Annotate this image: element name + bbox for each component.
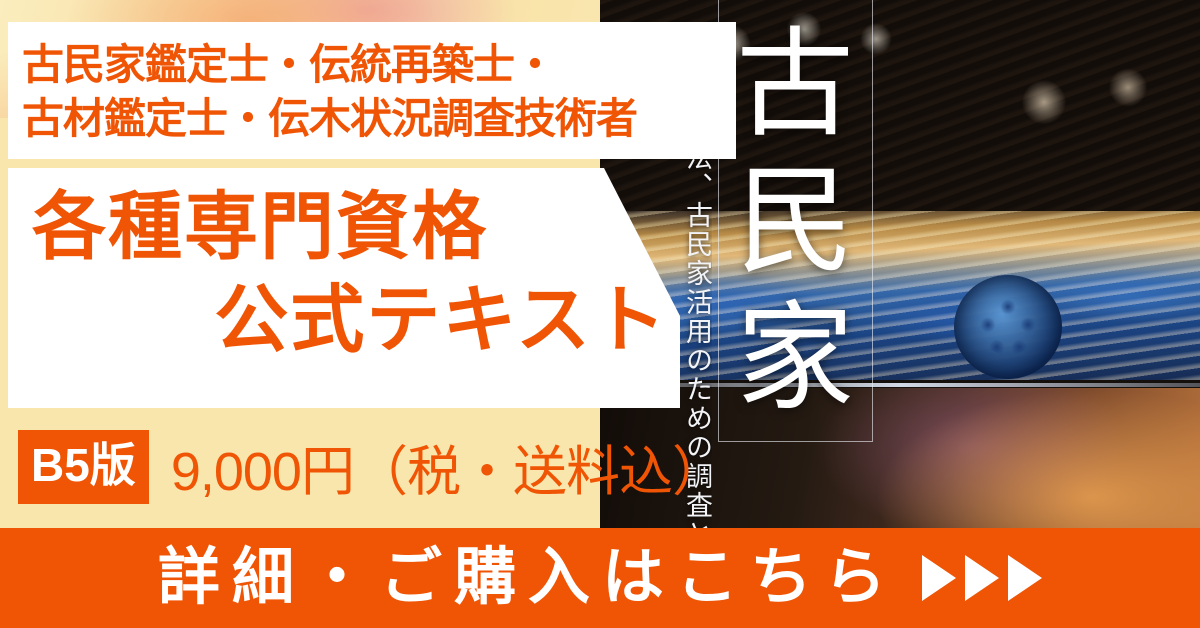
play-triangle-icon — [965, 555, 999, 601]
eyebrow-panel: 古民家鑑定士・伝統再築士・ 古材鑑定士・伝木状況調査技術者 — [8, 22, 736, 159]
play-triangle-icon — [1008, 555, 1042, 601]
cta-label: 詳細・ご購入はこちら — [158, 547, 898, 609]
price-text: 9,000円（税・送料込） — [171, 427, 725, 506]
cta-button[interactable]: 詳細・ご購入はこちら — [0, 528, 1200, 628]
qualification-list-text: 古民家鑑定士・伝統再築士・ 古材鑑定士・伝木状況調査技術者 — [22, 38, 728, 146]
headline-line-2: 公式テキスト — [8, 273, 676, 366]
cover-title-char-3: 家 — [736, 301, 854, 419]
cover-title: 古 民 家 — [720, 8, 870, 438]
cover-title-char-1: 古 — [736, 27, 854, 145]
page-title: 各種専門資格 公式テキスト — [8, 180, 676, 366]
promo-banner: 古 民 家 伝統構法、古民家活用のための調査と再生の 古民家鑑定士・伝統再築士・… — [0, 0, 1200, 628]
arrow-group — [922, 555, 1042, 601]
cover-title-char-2: 民 — [736, 164, 854, 282]
price-row: B5版 9,000円（税・送料込） — [18, 427, 725, 506]
family-crest-carving — [954, 275, 1062, 379]
size-badge: B5版 — [18, 430, 149, 504]
play-triangle-icon — [922, 555, 956, 601]
headline-panel: 各種専門資格 公式テキスト — [8, 168, 680, 408]
headline-line-1: 各種専門資格 — [8, 180, 676, 273]
